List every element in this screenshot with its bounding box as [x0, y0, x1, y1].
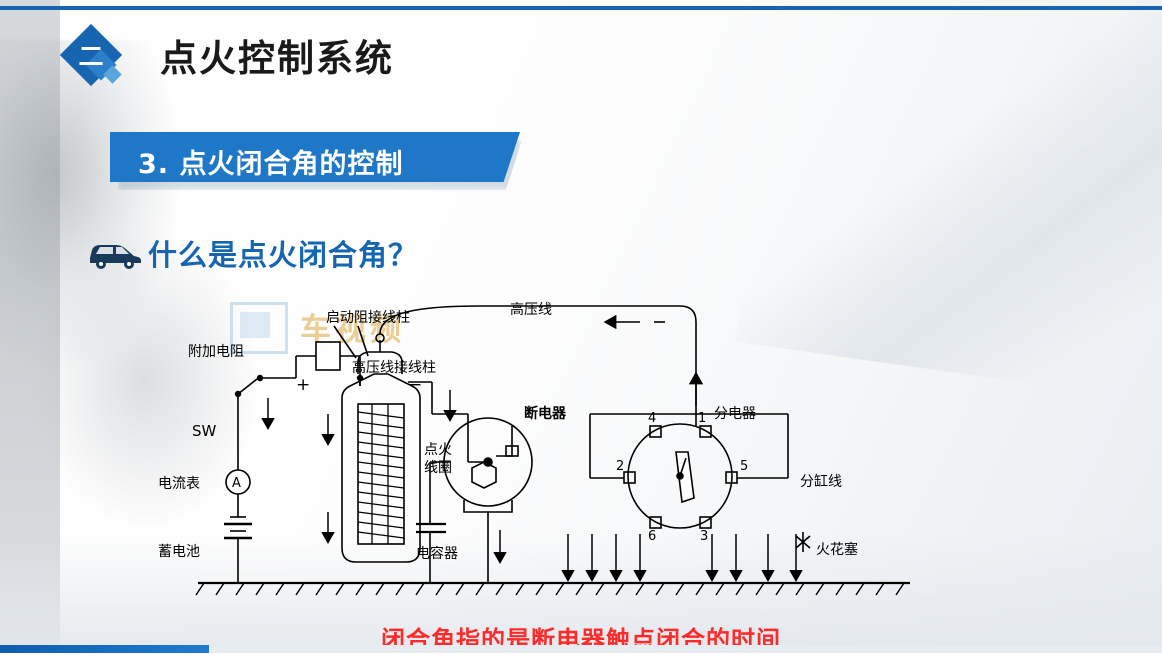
- label-spark-plug: 火花塞: [816, 541, 858, 558]
- slide-header: 二 点火控制系统: [0, 0, 1162, 110]
- label-distributor: 分电器: [714, 406, 756, 422]
- distributor-terminal-1: 1: [698, 411, 706, 426]
- ignition-system-diagram: 启动阻接线柱 附加电阻 高压线接线柱 高压线 断电器 分电器 点火 线圈 SW …: [120, 286, 1050, 616]
- label-plus: +: [296, 375, 310, 395]
- header-top-rule: [0, 6, 1162, 10]
- label-battery: 蓄电池: [158, 544, 200, 560]
- label-ammeter-symbol: A: [232, 476, 241, 491]
- page-title: 点火控制系统: [160, 28, 394, 82]
- label-additional-resistor: 附加电阻: [188, 344, 244, 360]
- label-sw: SW: [192, 422, 217, 440]
- label-ignition-coil-2: 线圈: [424, 460, 452, 476]
- label-breaker: 断电器: [524, 405, 567, 422]
- label-capacitor: 电容器: [416, 545, 458, 562]
- label-start-resistor-terminal: 启动阻接线柱: [326, 309, 410, 326]
- label-minus: −: [408, 375, 422, 395]
- section-number-badge: 二: [60, 24, 122, 86]
- question-text: 什么是点火闭合角？: [148, 232, 418, 274]
- distributor-terminal-3: 3: [700, 529, 708, 544]
- label-ignition-coil-1: 点火: [424, 442, 452, 458]
- label-ammeter: 电流表: [158, 476, 200, 492]
- label-hv-line: 高压线: [510, 301, 552, 318]
- label-hv-line-terminal: 高压线接线柱: [352, 359, 436, 376]
- subsection-label: 3. 点火闭合角的控制: [138, 142, 403, 181]
- distributor-terminal-6: 6: [648, 529, 656, 544]
- distributor-terminal-4: 4: [648, 411, 656, 426]
- section-number-text: 二: [60, 24, 122, 86]
- distributor-terminal-2: 2: [616, 459, 624, 474]
- label-cylinder-line: 分缸线: [800, 473, 842, 490]
- car-icon: [86, 236, 142, 270]
- distributor-terminal-5: 5: [740, 459, 748, 474]
- footer-bar: [0, 645, 1162, 653]
